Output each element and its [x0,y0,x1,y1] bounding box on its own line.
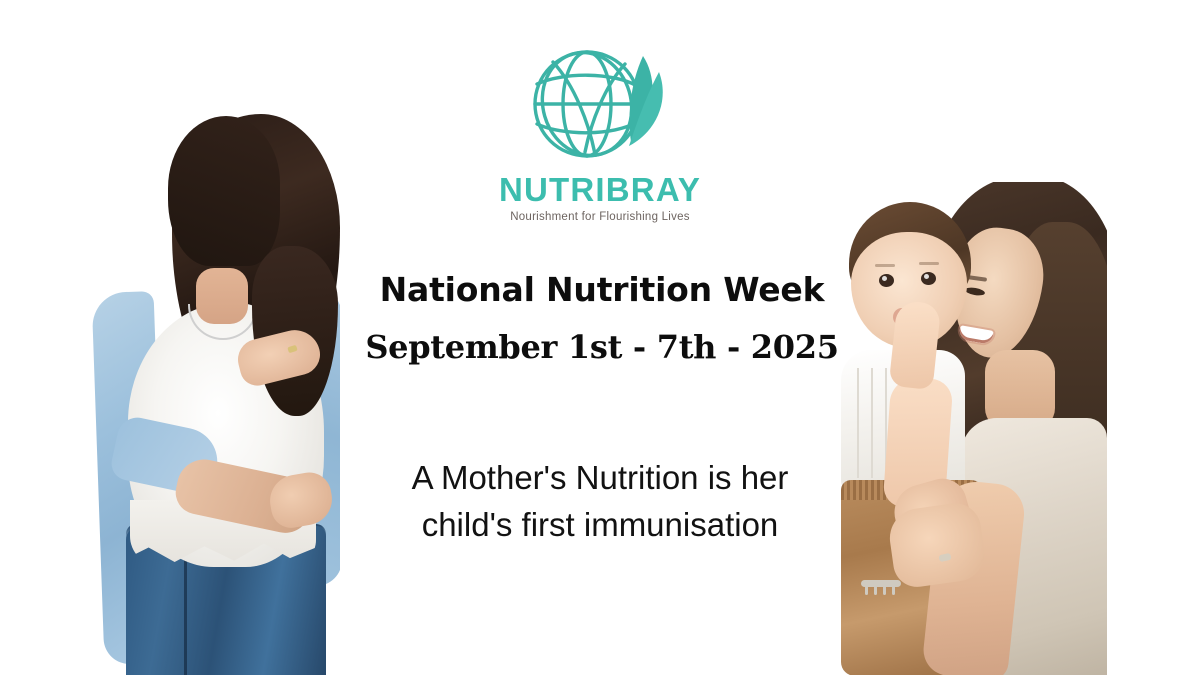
brand-logo: NUTRIBRAY Nourishment for Flourishing Li… [465,42,735,224]
poster-canvas: NUTRIBRAY Nourishment for Flourishing Li… [0,0,1200,675]
mother-bracelet [861,580,901,587]
slogan-line-2: child's first immunisation [340,502,860,549]
event-dates: September 1st - 7th - 2025 [352,330,852,365]
slogan-block: A Mother's Nutrition is her child's firs… [340,455,860,549]
globe-leaf-icon [513,42,688,167]
baby-eye-left [879,274,894,287]
baby-eyebrow-right [919,262,939,265]
brand-wordmark: NUTRIBRAY [465,173,735,206]
baby-eyebrow-left [875,264,895,267]
event-title: National Nutrition Week [352,272,852,308]
slogan-line-1: A Mother's Nutrition is her [340,455,860,502]
brand-tagline: Nourishment for Flourishing Lives [465,212,735,224]
woman-hair-front [168,116,280,266]
headline-block: National Nutrition Week September 1st - … [352,272,852,365]
baby-hand-to-mouth [889,300,942,390]
mother-baby-illustration [835,182,1107,675]
mother-and-baby-photo [835,182,1107,675]
pregnant-woman-photo [92,96,340,675]
pregnant-woman-illustration [92,96,340,675]
baby-eye-right [921,272,936,285]
